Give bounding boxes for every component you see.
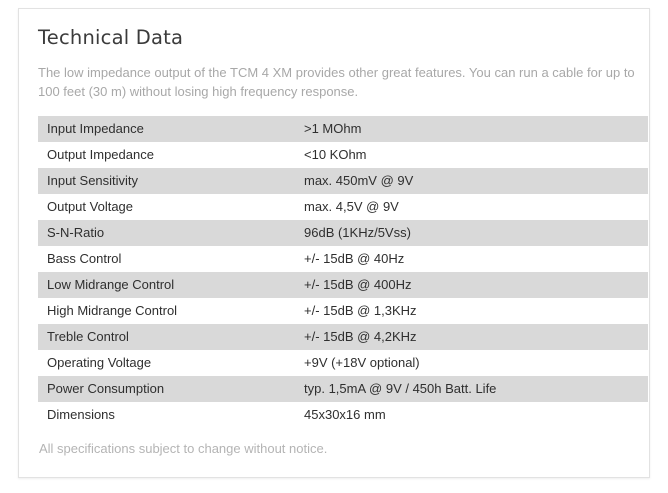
technical-data-card: Technical Data The low impedance output … — [18, 8, 650, 478]
table-row: Operating Voltage+9V (+18V optional) — [38, 350, 648, 376]
table-row: Output Voltagemax. 4,5V @ 9V — [38, 194, 648, 220]
table-row: High Midrange Control+/- 15dB @ 1,3KHz — [38, 298, 648, 324]
page-title: Technical Data — [38, 26, 630, 49]
spec-value: +/- 15dB @ 4,2KHz — [304, 324, 648, 350]
spec-value: 96dB (1KHz/5Vss) — [304, 220, 648, 246]
disclaimer-note: All specifications subject to change wit… — [39, 441, 630, 457]
spec-value: typ. 1,5mA @ 9V / 450h Batt. Life — [304, 376, 648, 402]
spec-label: High Midrange Control — [38, 298, 304, 324]
spec-value: 45x30x16 mm — [304, 402, 648, 428]
spec-value: +/- 15dB @ 400Hz — [304, 272, 648, 298]
intro-description: The low impedance output of the TCM 4 XM… — [38, 63, 640, 101]
table-row: Input Impedance>1 MOhm — [38, 116, 648, 142]
spec-value: <10 KOhm — [304, 142, 648, 168]
spec-label: Treble Control — [38, 324, 304, 350]
spec-label: Bass Control — [38, 246, 304, 272]
specifications-table: Input Impedance>1 MOhmOutput Impedance<1… — [38, 116, 648, 428]
specifications-table-body: Input Impedance>1 MOhmOutput Impedance<1… — [38, 116, 648, 428]
table-row: Bass Control+/- 15dB @ 40Hz — [38, 246, 648, 272]
spec-value: +/- 15dB @ 40Hz — [304, 246, 648, 272]
table-row: S-N-Ratio96dB (1KHz/5Vss) — [38, 220, 648, 246]
table-row: Treble Control+/- 15dB @ 4,2KHz — [38, 324, 648, 350]
spec-label: Input Impedance — [38, 116, 304, 142]
spec-value: >1 MOhm — [304, 116, 648, 142]
table-row: Low Midrange Control+/- 15dB @ 400Hz — [38, 272, 648, 298]
spec-value: max. 450mV @ 9V — [304, 168, 648, 194]
spec-label: Dimensions — [38, 402, 304, 428]
table-row: Input Sensitivitymax. 450mV @ 9V — [38, 168, 648, 194]
card-content: Technical Data The low impedance output … — [19, 9, 649, 457]
table-row: Output Impedance<10 KOhm — [38, 142, 648, 168]
spec-value: max. 4,5V @ 9V — [304, 194, 648, 220]
spec-label: Power Consumption — [38, 376, 304, 402]
table-row: Dimensions45x30x16 mm — [38, 402, 648, 428]
spec-label: S-N-Ratio — [38, 220, 304, 246]
table-row: Power Consumptiontyp. 1,5mA @ 9V / 450h … — [38, 376, 648, 402]
spec-label: Operating Voltage — [38, 350, 304, 376]
spec-label: Input Sensitivity — [38, 168, 304, 194]
spec-value: +/- 15dB @ 1,3KHz — [304, 298, 648, 324]
spec-label: Low Midrange Control — [38, 272, 304, 298]
spec-label: Output Impedance — [38, 142, 304, 168]
spec-label: Output Voltage — [38, 194, 304, 220]
spec-value: +9V (+18V optional) — [304, 350, 648, 376]
